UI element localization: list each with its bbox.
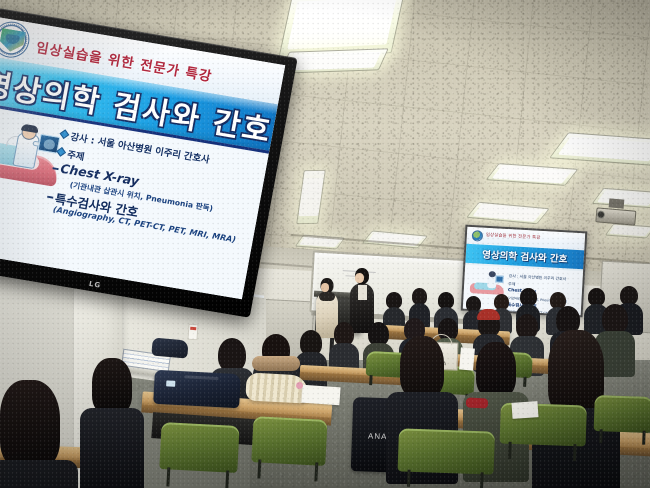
papers (459, 347, 475, 370)
papers (301, 385, 340, 406)
university-seal-logo (0, 19, 32, 60)
red-beanie (477, 309, 500, 320)
presenter-right (350, 268, 374, 330)
papers (511, 401, 538, 419)
lecture-hall-photo: 임상실습을 위한 전문가 특강 영상의학 검사와 간호 강사 : 서울 아산병원… (0, 0, 650, 488)
ceiling-projector (595, 202, 637, 227)
display-brand-logo: LG (88, 280, 102, 290)
navy-backpack (153, 370, 241, 408)
red-item (466, 397, 488, 408)
display-bezel: 임상실습을 위한 전문가 특강 영상의학 검사와 간호 (0, 6, 298, 318)
chair (593, 395, 650, 445)
chair (397, 428, 495, 488)
wall-mounted-display[interactable]: 임상실습을 위한 전문가 특강 영상의학 검사와 간호 (0, 6, 298, 318)
display-screen: 임상실습을 위한 전문가 특강 영상의학 검사와 간호 (0, 17, 285, 300)
screen-kicker: 임상실습을 위한 전문가 특강 (486, 232, 541, 241)
bag-on-ledge (151, 337, 188, 358)
screen-bullet: 강사 : 서울 아산병원 이주리 간호사 (509, 273, 567, 282)
screen-bullet: 주제 (508, 281, 515, 287)
slide-bullet-topic: 주제 (66, 147, 86, 164)
university-seal-logo (472, 230, 484, 242)
radiology-patient-illustration (0, 116, 66, 195)
fur-hood-trim (252, 356, 300, 371)
presentation-slide: 임상실습을 위한 전문가 특강 영상의학 검사와 간호 (0, 17, 285, 300)
chair (250, 416, 327, 482)
notice-card (187, 324, 198, 341)
bullet-dash-icon (47, 196, 53, 199)
small-item (296, 382, 303, 389)
chair (158, 422, 239, 488)
